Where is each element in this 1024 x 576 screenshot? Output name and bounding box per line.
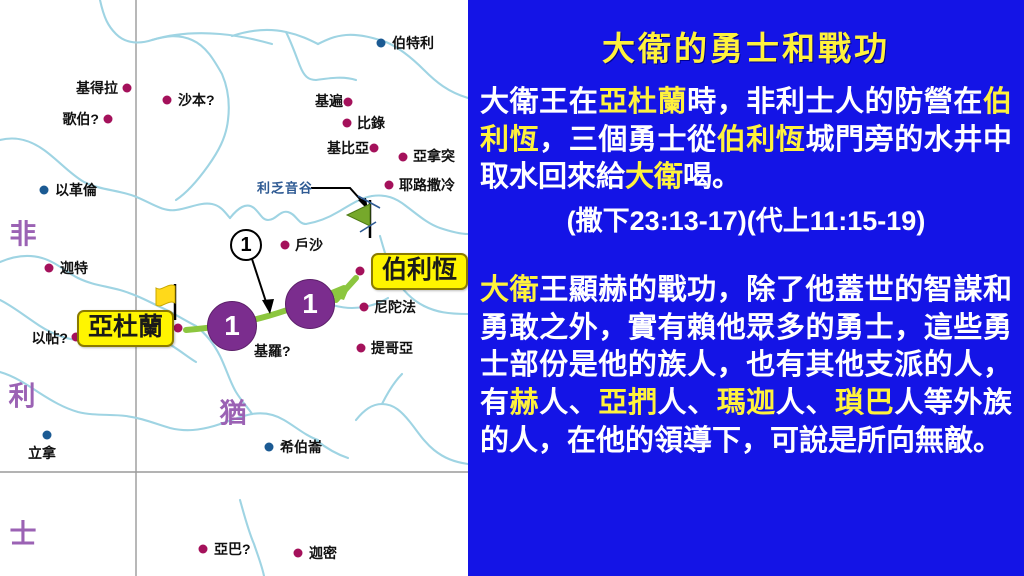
- city-dot-tekoa[interactable]: [357, 344, 366, 353]
- river-20: [424, 306, 468, 314]
- city-dot-carmel[interactable]: [294, 549, 303, 558]
- map-panel: 伯特利 基得拉 沙本? 歌伯? 基遍 比錄 基比亞 亞拿突 以革倫 耶路撒冷 戶…: [0, 0, 468, 576]
- city-dot-shaben[interactable]: [163, 96, 172, 105]
- paragraph-1-segment-8: 喝。: [683, 161, 741, 193]
- paragraph-1-segment-1: 亞杜蘭: [598, 86, 687, 118]
- paragraph-2-segment-4: 亞捫: [598, 387, 657, 419]
- city-label-beteli: 伯特利: [392, 36, 434, 50]
- river-22: [382, 374, 402, 404]
- river-9: [230, 206, 306, 224]
- city-label-jerusalem: 耶路撒冷: [399, 178, 455, 192]
- city-label-gedera: 基得拉: [76, 81, 118, 95]
- paragraph-2-segment-3: 人、: [539, 387, 598, 419]
- route-marker-1-left[interactable]: 1: [207, 301, 257, 351]
- text-panel: 大衛的勇士和戰功 大衛王在亞杜蘭時，非利士人的防營在伯利恆，三個勇士從伯利恆城門…: [468, 0, 1024, 576]
- city-dot-bethlehem[interactable]: [356, 267, 365, 276]
- city-dot-gedera[interactable]: [123, 84, 132, 93]
- valley-leader-line: [311, 188, 368, 210]
- place-highlight-bethlehem[interactable]: 伯利恆: [371, 253, 468, 290]
- callout-arrow-1: [252, 259, 274, 314]
- region-label-philistia-1: 非: [10, 213, 37, 252]
- valley-label-rephaim: 利乏音谷: [257, 178, 313, 197]
- city-dot-anathoth[interactable]: [399, 153, 408, 162]
- city-label-hushah: 戶沙: [295, 238, 323, 252]
- paragraph-2-segment-2: 赫: [510, 387, 540, 419]
- city-dot-netophah[interactable]: [360, 303, 369, 312]
- paragraph-1-segment-4: ，三個勇士從: [539, 124, 717, 156]
- city-label-libnah: 立拿: [28, 446, 56, 460]
- city-dot-libnah[interactable]: [43, 431, 52, 440]
- city-label-carmel: 迦密: [309, 546, 337, 560]
- city-dot-adullam[interactable]: [174, 324, 183, 333]
- city-dot-beteli[interactable]: [377, 39, 386, 48]
- city-label-hebron: 希伯崙: [280, 440, 322, 454]
- city-dot-gath[interactable]: [45, 264, 54, 273]
- city-label-beeroth: 比錄: [357, 116, 385, 130]
- city-label-giloh: 基羅?: [254, 344, 291, 358]
- city-label-abah: 亞巴?: [214, 542, 251, 556]
- paragraph-2-segment-6: 瑪迦: [717, 387, 776, 419]
- river-2: [152, 33, 272, 44]
- region-label-judah: 猶: [220, 392, 247, 431]
- city-dot-jerusalem[interactable]: [385, 181, 394, 190]
- paragraph-1-segment-0: 大衛王在: [480, 86, 598, 118]
- city-label-tekoa: 提哥亞: [371, 341, 413, 355]
- paragraph-2: 大衛王顯赫的戰功，除了他蓋世的智謀和勇敢之外，實有賴他眾多的勇士，這些勇士部份是…: [480, 272, 1012, 460]
- paragraph-2-segment-7: 人、: [776, 387, 835, 419]
- paragraph-2-segment-0: 大衛: [480, 274, 539, 306]
- river-17: [252, 413, 318, 440]
- city-label-netophah: 尼陀法: [374, 300, 416, 314]
- region-label-philistia-3: 士: [10, 513, 37, 552]
- river-11: [372, 195, 468, 234]
- city-dot-gibeon[interactable]: [344, 98, 353, 107]
- city-dot-gibeah[interactable]: [370, 144, 379, 153]
- city-dot-gob[interactable]: [104, 115, 113, 124]
- paragraph-1-segment-7: 大衛: [625, 161, 683, 193]
- city-label-shaben: 沙本?: [178, 93, 215, 107]
- city-dot-hebron[interactable]: [265, 443, 274, 452]
- river-16: [0, 372, 252, 430]
- city-label-ether: 以帖?: [31, 331, 68, 345]
- scripture-reference-1: (撒下23:13-17)(代上11:15-19): [480, 199, 1012, 238]
- city-dot-abah[interactable]: [199, 545, 208, 554]
- city-label-gath: 迦特: [60, 261, 88, 275]
- paragraph-1-segment-5: 伯利恆: [717, 124, 806, 156]
- city-dot-ekron[interactable]: [40, 186, 49, 195]
- paragraph-1: 大衛王在亞杜蘭時，非利士人的防營在伯利恆，三個勇士從伯利恆城門旁的水井中取水回來…: [480, 84, 1012, 197]
- city-label-gob: 歌伯?: [62, 112, 99, 126]
- city-label-gibeon: 基遍: [315, 94, 343, 108]
- paragraph-2-segment-8: 瑣巴: [835, 387, 894, 419]
- river-24: [240, 500, 264, 576]
- city-label-ekron: 以革倫: [55, 183, 97, 197]
- river-8: [0, 138, 230, 218]
- place-highlight-adullam[interactable]: 亞杜蘭: [77, 310, 174, 347]
- river-7: [316, 78, 356, 80]
- paragraph-1-segment-2: 時，非利士人的防營在: [687, 86, 983, 118]
- slide-root: 伯特利 基得拉 沙本? 歌伯? 基遍 比錄 基比亞 亞拿突 以革倫 耶路撒冷 戶…: [0, 0, 1024, 576]
- route-marker-1-right[interactable]: 1: [285, 279, 335, 329]
- river-21: [356, 404, 468, 464]
- city-label-gibeah: 基比亞: [327, 141, 369, 155]
- city-dot-hushah[interactable]: [281, 241, 290, 250]
- callout-marker-1[interactable]: 1: [230, 229, 262, 261]
- city-label-anathoth: 亞拿突: [413, 149, 455, 163]
- paragraph-2-segment-5: 人、: [658, 387, 717, 419]
- river-6: [286, 32, 316, 80]
- city-dot-beeroth[interactable]: [343, 119, 352, 128]
- region-label-philistia-2: 利: [9, 375, 36, 414]
- page-title: 大衛的勇士和戰功: [480, 22, 1012, 70]
